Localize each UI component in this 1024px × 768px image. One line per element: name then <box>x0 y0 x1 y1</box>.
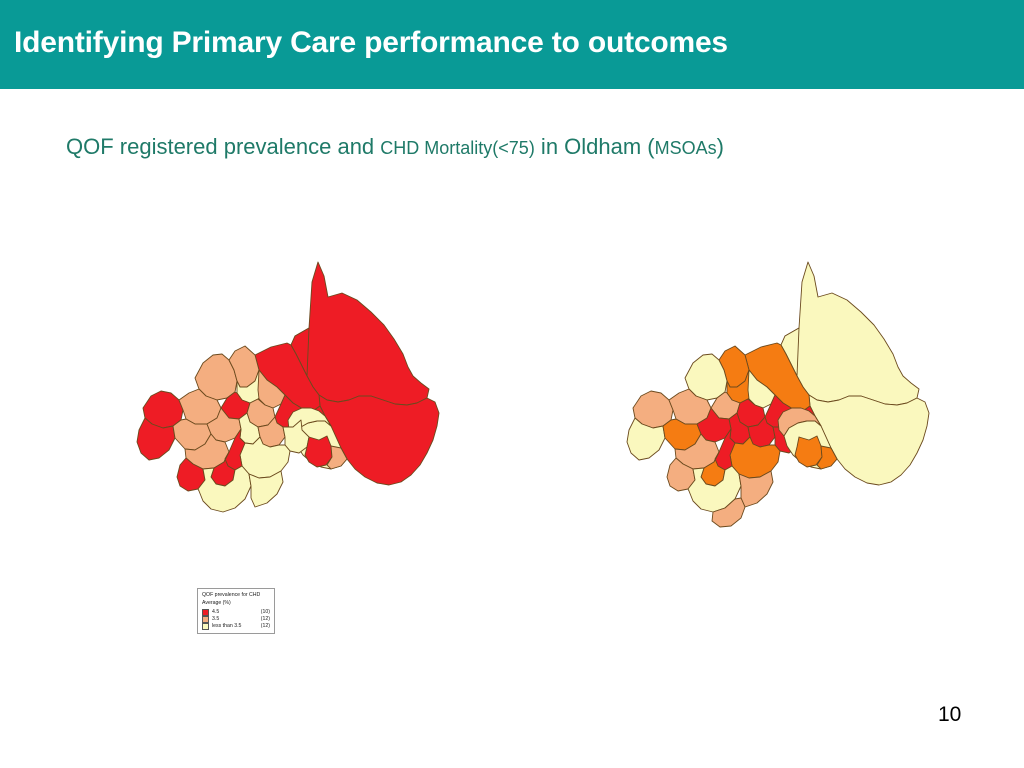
map-qof-svg <box>95 250 495 570</box>
legend-swatch-icon <box>202 609 209 616</box>
page-number: 10 <box>938 703 961 727</box>
legend-swatch-icon <box>202 623 209 630</box>
legend-item: less than 3.5 (12) <box>202 623 270 630</box>
page-title: Identifying Primary Care performance to … <box>14 26 728 60</box>
msoa-area <box>305 436 332 467</box>
subtitle-part-prevalence: QOF registered prevalence and <box>66 134 380 159</box>
map-qof-prevalence: QOF prevalence for CHD Average (%) 4.5 (… <box>95 250 495 570</box>
legend-rows: 4.5 (10) 3.5 (12) less than 3.5 (12) <box>202 609 270 630</box>
subtitle-part-chd-mortality: CHD Mortality(<75) <box>380 138 535 158</box>
legend-title-line1: QOF prevalence for CHD <box>202 592 270 600</box>
legend-swatch-icon <box>202 616 209 623</box>
subtitle-part-close-paren: ) <box>717 134 724 159</box>
legend-item-label: less than 3.5 <box>212 623 261 631</box>
legend-item-count: (12) <box>261 623 270 631</box>
subtitle-part-in-oldham: in Oldham ( <box>535 134 655 159</box>
map-smr-chd-under75: SMR for CHD under 75 Over 50% higher (8)… <box>585 250 985 570</box>
msoa-area <box>781 262 919 405</box>
subtitle-part-msoas: MSOAs <box>655 138 717 158</box>
legend-qof-prevalence: QOF prevalence for CHD Average (%) 4.5 (… <box>197 588 275 634</box>
slide-subtitle: QOF registered prevalence and CHD Mortal… <box>66 134 724 160</box>
msoa-area <box>291 262 429 405</box>
slide-header-band: Identifying Primary Care performance to … <box>0 0 1024 89</box>
map-smr-svg <box>585 250 985 570</box>
legend-title-line2: Average (%) <box>202 600 270 608</box>
msoa-area <box>795 436 822 467</box>
